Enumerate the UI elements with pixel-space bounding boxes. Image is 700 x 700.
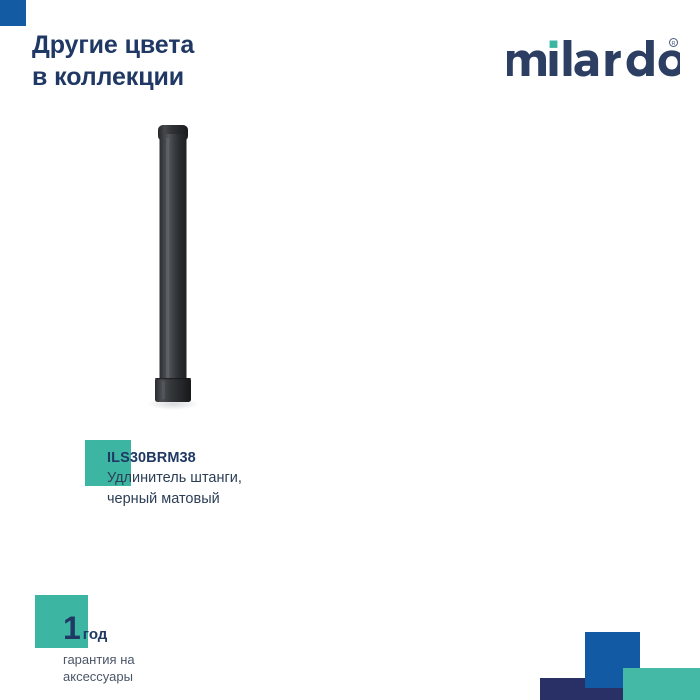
decorative-square-top-left <box>0 0 26 26</box>
warranty-unit: год <box>83 627 108 642</box>
logo-accent-dot <box>550 41 558 48</box>
warranty-badge: 1 год гарантия на аксессуары <box>35 595 205 686</box>
warranty-term: 1 год <box>35 595 205 644</box>
warranty-note: гарантия на аксессуары <box>35 651 205 686</box>
page-title-line-2: в коллекции <box>32 62 352 94</box>
product-collection-card: Другие цвета в коллекции <box>0 0 700 700</box>
svg-text:R: R <box>672 41 676 47</box>
page-title-line-1: Другие цвета <box>32 30 352 62</box>
product-description: Удлинитель штанги, черный матовый <box>107 468 385 509</box>
warranty-number: 1 <box>63 612 81 644</box>
page-title: Другие цвета в коллекции <box>32 30 352 93</box>
brand-logo: R <box>505 32 680 80</box>
warranty-note-line-1: гарантия на <box>63 651 205 668</box>
caption-text-group: ILS30BRM38 Удлинитель штанги, черный мат… <box>85 440 385 509</box>
product-caption: ILS30BRM38 Удлинитель штанги, черный мат… <box>85 440 385 509</box>
product-description-line-2: черный матовый <box>107 489 385 510</box>
product-photo <box>118 120 228 420</box>
product-description-line-1: Удлинитель штанги, <box>107 468 385 489</box>
warranty-note-line-2: аксессуары <box>63 668 205 685</box>
decorative-square-bottom-teal <box>623 668 700 700</box>
product-sku: ILS30BRM38 <box>107 450 385 466</box>
